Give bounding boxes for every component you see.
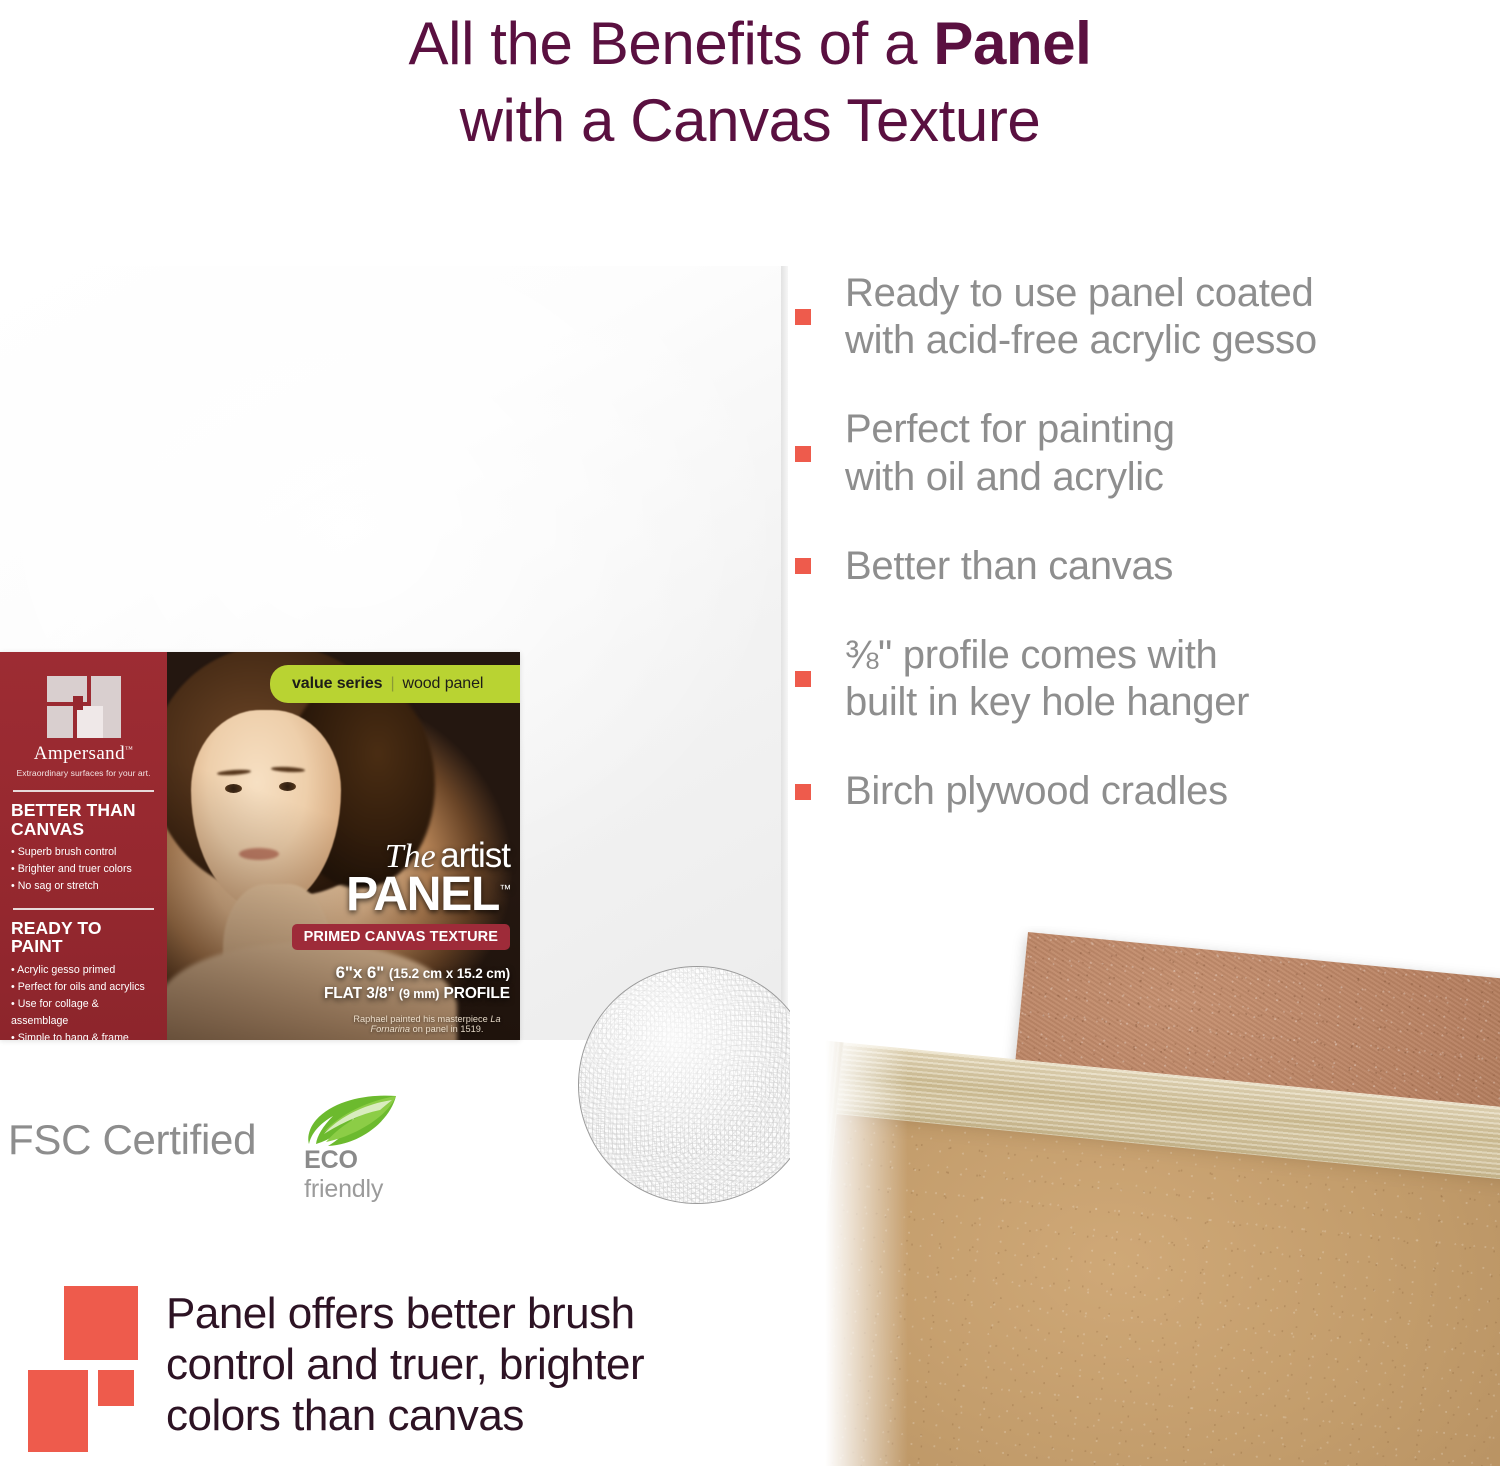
title-trademark: ™: [499, 882, 510, 896]
product-size: 6"x 6" (15.2 cm x 15.2 cm): [280, 963, 510, 983]
banner-regular-text: wood panel: [403, 675, 484, 693]
divider-2: [13, 908, 154, 910]
title-subtitle-badge: PRIMED CANVAS TEXTURE: [292, 924, 510, 950]
brand-name-text: Ampersand: [34, 743, 125, 764]
benefit-item: ⅜" profile comes with built in key hole …: [795, 632, 1495, 726]
benefit-item-text: Perfect for painting with oil and acryli…: [845, 406, 1175, 500]
eco-friendly-badge: ECO friendly: [290, 1096, 410, 1184]
package-section2-item: • Perfect for oils and acrylics: [11, 979, 156, 996]
bullet-square-icon: [795, 309, 811, 325]
benefit-item-text: Birch plywood cradles: [845, 768, 1228, 815]
artwork-credit: Raphael painted his masterpiece La Forna…: [334, 1014, 520, 1034]
benefits-list: Ready to use panel coated with acid-free…: [795, 270, 1495, 858]
benefit-item-text: Better than canvas: [845, 543, 1173, 590]
headline-line-1-bold: Panel: [933, 10, 1091, 77]
fsc-certified-label: FSC Certified: [8, 1116, 256, 1164]
bottom-caption: Panel offers better brush control and tr…: [42, 1286, 644, 1441]
credit-prefix: Raphael painted his masterpiece: [353, 1014, 490, 1024]
package-section1-list: • Superb brush control• Brighter and tru…: [11, 844, 156, 895]
credit-suffix: on panel in 1519.: [410, 1024, 483, 1034]
package-section2-item: • Simple to hang & frame: [11, 1030, 156, 1040]
page-title: All the Benefits of a Panel with a Canva…: [0, 6, 1500, 160]
eco-leaf-icon: [306, 1094, 398, 1148]
package-section2-item: • Acrylic gesso primed: [11, 962, 156, 979]
product-package-label: Ampersand™ Extraordinary surfaces for yo…: [0, 652, 520, 1040]
headline-line-1: All the Benefits of a Panel: [409, 10, 1092, 77]
canvas-texture-swatch-icon: [578, 966, 816, 1204]
eco-bold-text: ECO: [304, 1146, 358, 1174]
profile-main: FLAT 3/8": [324, 985, 395, 1002]
banner-separator: |: [390, 675, 394, 693]
product-title-block: The artist PANEL™ PRIMED CANVAS TEXTURE …: [280, 836, 510, 1003]
title-panel: PANEL™: [280, 874, 510, 916]
benefit-item: Better than canvas: [795, 543, 1495, 590]
bullet-square-icon: [795, 558, 811, 574]
package-section2-item: • Use for collage & assemblage: [11, 996, 156, 1030]
benefit-item: Ready to use panel coated with acid-free…: [795, 270, 1495, 364]
headline-line-1-regular: All the Benefits of a: [409, 10, 934, 77]
infographic-root: All the Benefits of a Panel with a Canva…: [0, 0, 1500, 1466]
bullet-square-icon: [795, 784, 811, 800]
three-squares-mark-icon: [42, 1286, 148, 1426]
package-left-column: Ampersand™ Extraordinary surfaces for yo…: [0, 652, 167, 1040]
package-section1-item: • Brighter and truer colors: [11, 861, 156, 878]
package-section1-title: BETTER THANCANVAS: [11, 801, 156, 838]
benefit-item: Birch plywood cradles: [795, 768, 1495, 815]
divider-1: [13, 790, 154, 792]
size-metric: (15.2 cm x 15.2 cm): [389, 966, 510, 981]
ampersand-logo-icon: [47, 676, 121, 738]
eco-regular-text: friendly: [304, 1175, 383, 1203]
raphael-portrait-artwork: value series | wood panel The artist PAN…: [167, 652, 520, 1040]
package-section1-item: • Superb brush control: [11, 844, 156, 861]
package-section2-list: • Acrylic gesso primed• Perfect for oils…: [11, 962, 156, 1040]
bullet-square-icon: [795, 446, 811, 462]
panel-back-photo: [790, 926, 1500, 1466]
title-panel-text: PANEL: [346, 868, 499, 921]
value-series-banner: value series | wood panel: [270, 665, 520, 703]
package-section2-title: READY TO PAINT: [11, 919, 156, 956]
bullet-square-icon: [795, 671, 811, 687]
bottom-caption-text: Panel offers better brush control and tr…: [166, 1286, 644, 1441]
brand-name: Ampersand™: [11, 743, 156, 765]
panel-right-edge: [781, 266, 788, 1040]
eco-caption: ECO friendly: [304, 1146, 410, 1204]
profile-metric: (9 mm): [399, 987, 439, 1001]
size-imperial: 6"x 6": [336, 963, 385, 982]
product-profile: FLAT 3/8" (9 mm) PROFILE: [280, 985, 510, 1003]
banner-bold-text: value series: [292, 675, 382, 693]
package-section1-item: • No sag or stretch: [11, 878, 156, 895]
benefit-item-text: ⅜" profile comes with built in key hole …: [845, 632, 1249, 726]
profile-word: PROFILE: [444, 985, 510, 1002]
headline-line-2: with a Canvas Texture: [460, 87, 1041, 154]
certification-row: FSC Certified ECO friendly: [8, 1096, 410, 1184]
brand-tagline: Extraordinary surfaces for your art.: [11, 768, 156, 778]
benefit-item: Perfect for painting with oil and acryli…: [795, 406, 1495, 500]
brand-trademark: ™: [125, 745, 133, 754]
benefit-item-text: Ready to use panel coated with acid-free…: [845, 270, 1317, 364]
